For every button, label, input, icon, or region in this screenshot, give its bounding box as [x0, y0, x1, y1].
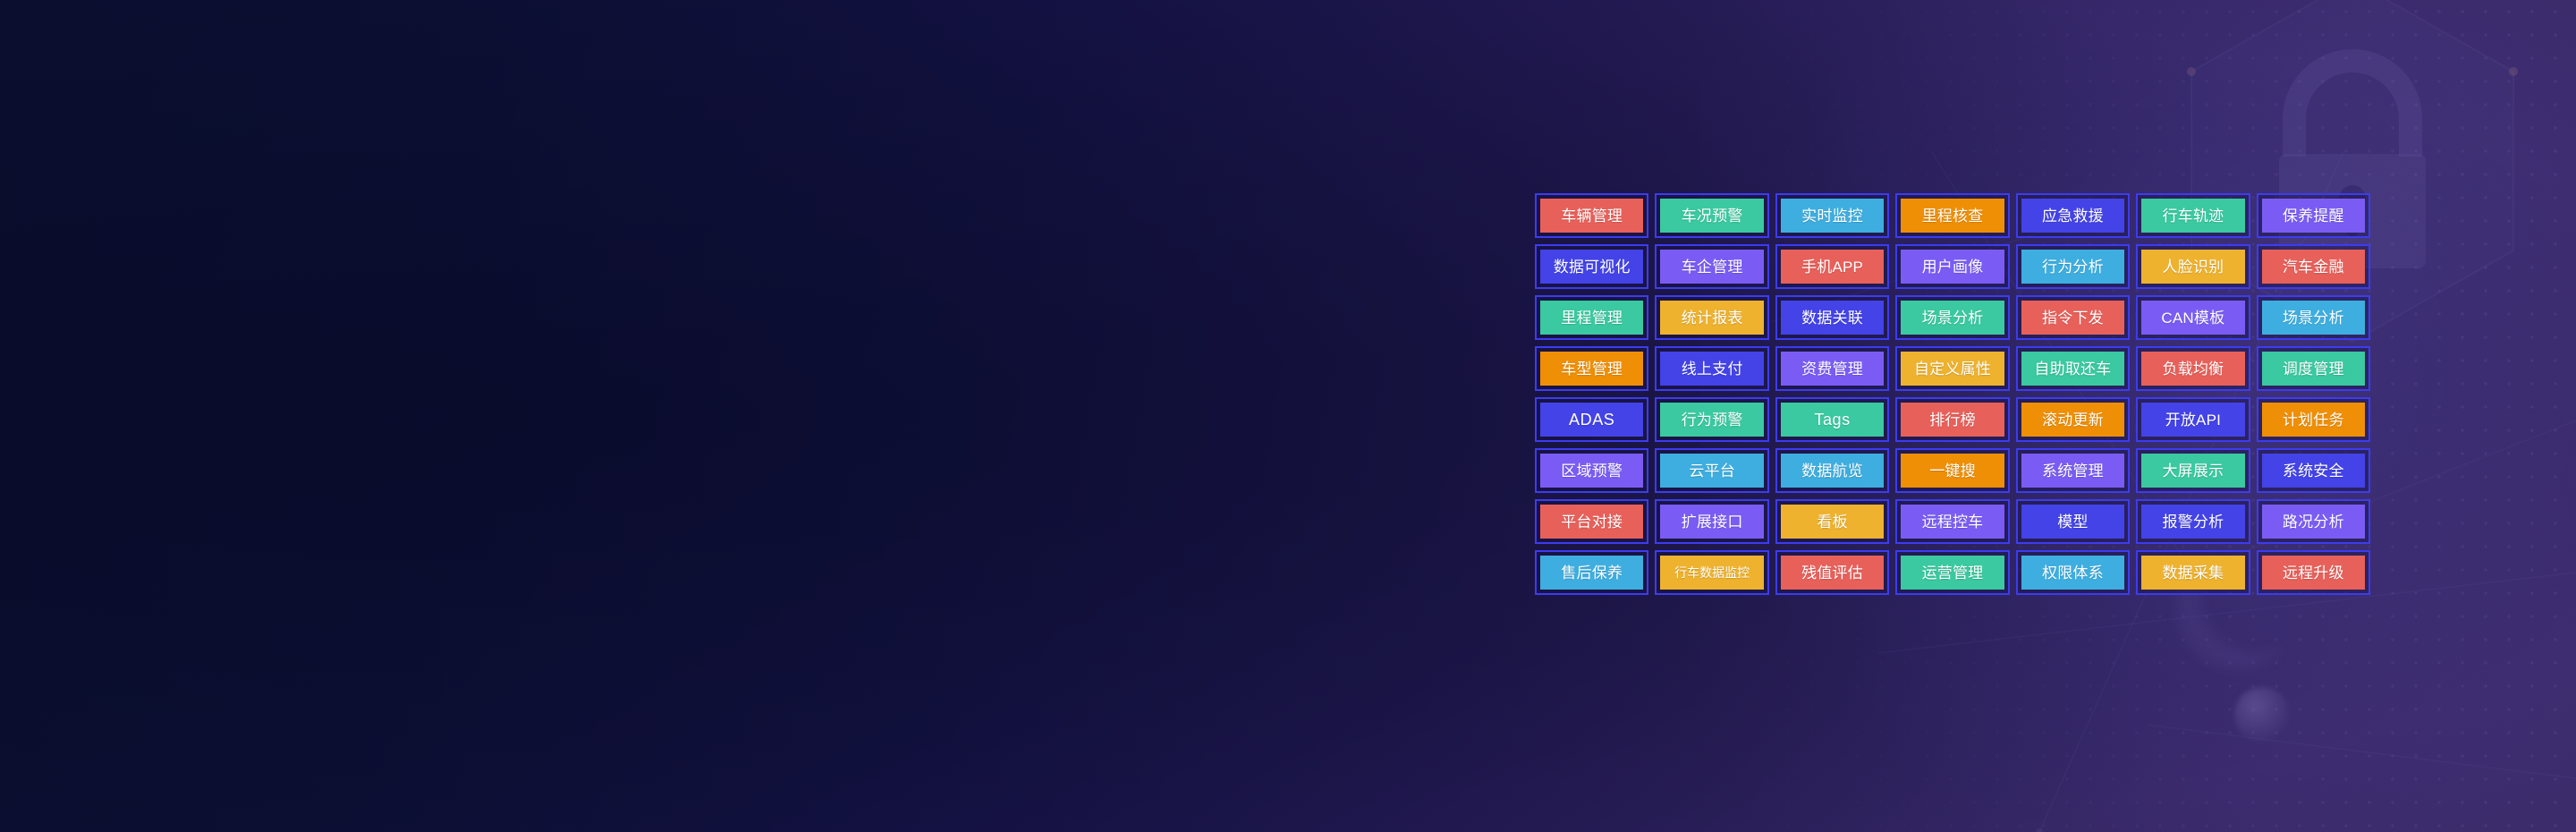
capability-tile[interactable]: 数据航览: [1781, 454, 1884, 488]
capability-tile[interactable]: 汽车金融: [2262, 250, 2365, 284]
capability-tile-label: 里程管理: [1561, 310, 1623, 326]
capability-tile-cell[interactable]: 负载均衡: [2136, 346, 2250, 391]
capability-tile-label: 行车数据监控: [1674, 566, 1750, 579]
capability-tile-cell[interactable]: 实时监控: [1775, 193, 1889, 238]
capability-tile-cell[interactable]: CAN模板: [2136, 295, 2250, 340]
capability-tile[interactable]: 手机APP: [1781, 250, 1884, 284]
capability-tile-label: 模型: [2057, 514, 2088, 530]
capability-tile-label: 运营管理: [1922, 565, 1984, 581]
capability-tile-label: 系统管理: [2042, 463, 2104, 479]
capability-tile[interactable]: 自定义属性: [1901, 352, 2004, 386]
capability-tile-label: 场景分析: [2283, 310, 2344, 326]
capability-tile-cell[interactable]: 滚动更新: [2016, 397, 2130, 442]
capability-tile-label: 排行榜: [1929, 412, 1976, 428]
capability-tile-cell[interactable]: 排行榜: [1895, 397, 2009, 442]
capability-tile[interactable]: 售后保养: [1540, 556, 1643, 590]
capability-tile-label: 远程升级: [2283, 565, 2344, 581]
capability-tile[interactable]: 扩展接口: [1660, 505, 1763, 539]
capability-tile[interactable]: 一键搜: [1901, 454, 2004, 488]
capability-tile-label: 负载均衡: [2162, 361, 2224, 377]
capability-tile-cell[interactable]: 系统安全: [2257, 448, 2370, 493]
capability-tile-cell[interactable]: 运营管理: [1895, 550, 2009, 595]
capability-tile[interactable]: 调度管理: [2262, 352, 2365, 386]
capability-tile[interactable]: 资费管理: [1781, 352, 1884, 386]
capability-tile-label: 汽车金融: [2283, 259, 2344, 275]
capability-tile-label: 平台对接: [1561, 514, 1623, 530]
capability-tile[interactable]: 开放API: [2141, 403, 2244, 437]
capability-tile-label: 滚动更新: [2042, 412, 2104, 428]
capability-tile[interactable]: 路况分析: [2262, 505, 2365, 539]
capability-tile-label: 场景分析: [1922, 310, 1984, 326]
capability-tile[interactable]: ADAS: [1540, 403, 1643, 437]
capability-tile-label: 系统安全: [2283, 463, 2344, 479]
capability-tile[interactable]: 区域预警: [1540, 454, 1643, 488]
capability-tile-cell[interactable]: 线上支付: [1655, 346, 1768, 391]
capability-tile-cell[interactable]: 里程管理: [1535, 295, 1648, 340]
capability-tile[interactable]: 行为分析: [2021, 250, 2124, 284]
capability-tile-label: 实时监控: [1801, 208, 1863, 224]
capability-tile-label: Tags: [1814, 412, 1850, 428]
capability-tile-label: 线上支付: [1682, 361, 1743, 377]
capability-tile-cell[interactable]: 计划任务: [2257, 397, 2370, 442]
capability-tile-label: 数据航览: [1801, 463, 1863, 479]
capability-tile-label: 看板: [1817, 514, 1847, 530]
capability-tile[interactable]: 大屏展示: [2141, 454, 2244, 488]
capability-tile-cell[interactable]: 自助取还车: [2016, 346, 2130, 391]
capability-tile-label: 调度管理: [2283, 361, 2344, 377]
capability-tile-label: 行为分析: [2042, 259, 2104, 275]
capability-tile-label: 云平台: [1689, 463, 1735, 479]
capability-tile-cell[interactable]: 统计报表: [1655, 295, 1768, 340]
capability-tile-cell[interactable]: 远程升级: [2257, 550, 2370, 595]
capability-tile[interactable]: 排行榜: [1901, 403, 2004, 437]
capability-tile[interactable]: 自助取还车: [2021, 352, 2124, 386]
capability-tile-label: 自助取还车: [2034, 361, 2111, 377]
capability-tile[interactable]: 行车轨迹: [2141, 199, 2244, 233]
capability-tile[interactable]: 指令下发: [2021, 301, 2124, 335]
capability-tile-cell[interactable]: 行车数据监控: [1655, 550, 1768, 595]
capability-tile-label: 手机APP: [1801, 259, 1863, 275]
capability-tile-label: 权限体系: [2042, 565, 2104, 581]
capability-tile-label: 用户画像: [1922, 259, 1984, 275]
capability-tile-cell[interactable]: 人脸识别: [2136, 244, 2250, 289]
capability-tile-cell[interactable]: 系统管理: [2016, 448, 2130, 493]
capability-tile[interactable]: 统计报表: [1660, 301, 1763, 335]
capability-tile[interactable]: 残值评估: [1781, 556, 1884, 590]
capability-tile[interactable]: 看板: [1781, 505, 1884, 539]
capability-tile-label: 数据可视化: [1554, 259, 1631, 275]
capability-tile[interactable]: 场景分析: [2262, 301, 2365, 335]
capability-tile[interactable]: 计划任务: [2262, 403, 2365, 437]
capability-tile[interactable]: 车企管理: [1660, 250, 1763, 284]
capability-tile-cell[interactable]: 汽车金融: [2257, 244, 2370, 289]
capability-tile[interactable]: 运营管理: [1901, 556, 2004, 590]
capability-tile[interactable]: 模型: [2021, 505, 2124, 539]
capability-tile-cell[interactable]: 一键搜: [1895, 448, 2009, 493]
capability-tile[interactable]: 实时监控: [1781, 199, 1884, 233]
capability-tile-label: 远程控车: [1922, 514, 1984, 530]
capability-tile-label: 车企管理: [1682, 259, 1743, 275]
capability-tile-cell[interactable]: 残值评估: [1775, 550, 1889, 595]
capability-tile[interactable]: 滚动更新: [2021, 403, 2124, 437]
capability-grid: 车辆管理车况预警实时监控里程核查应急救援行车轨迹保养提醒数据可视化车企管理手机A…: [1535, 193, 2370, 595]
capability-tile-cell[interactable]: 指令下发: [2016, 295, 2130, 340]
capability-tile-cell[interactable]: 数据关联: [1775, 295, 1889, 340]
capability-tile[interactable]: 权限体系: [2021, 556, 2124, 590]
capability-tile-cell[interactable]: 大屏展示: [2136, 448, 2250, 493]
capability-tile-cell[interactable]: 场景分析: [2257, 295, 2370, 340]
capability-tile[interactable]: 场景分析: [1901, 301, 2004, 335]
capability-tile[interactable]: Tags: [1781, 403, 1884, 437]
capability-tile-label: 一键搜: [1929, 463, 1976, 479]
capability-tile-label: 残值评估: [1801, 565, 1863, 581]
capability-tile-label: 里程核查: [1922, 208, 1984, 224]
capability-tile[interactable]: 数据可视化: [1540, 250, 1643, 284]
capability-tile[interactable]: 里程核查: [1901, 199, 2004, 233]
capability-tile-cell[interactable]: 开放API: [2136, 397, 2250, 442]
capability-tile-label: 车辆管理: [1561, 208, 1623, 224]
capability-tile-cell[interactable]: 车企管理: [1655, 244, 1768, 289]
capability-tile-cell[interactable]: 权限体系: [2016, 550, 2130, 595]
capability-tile-label: 开放API: [2165, 412, 2221, 428]
capability-tile[interactable]: 人脸识别: [2141, 250, 2244, 284]
capability-tile-cell[interactable]: 售后保养: [1535, 550, 1648, 595]
capability-tile-label: ADAS: [1569, 412, 1614, 428]
capability-tile-cell[interactable]: 车辆管理: [1535, 193, 1648, 238]
capability-tile[interactable]: 车型管理: [1540, 352, 1643, 386]
capability-tile[interactable]: 线上支付: [1660, 352, 1763, 386]
orb-glow: [2234, 687, 2290, 743]
capability-tile-label: 路况分析: [2283, 514, 2344, 530]
capability-tile[interactable]: 系统管理: [2021, 454, 2124, 488]
capability-tile-label: 报警分析: [2162, 514, 2224, 530]
capability-tile-label: 自定义属性: [1914, 361, 1991, 377]
capability-tile-cell[interactable]: 里程核查: [1895, 193, 2009, 238]
capability-tile-cell[interactable]: 用户画像: [1895, 244, 2009, 289]
capability-tile-label: 数据关联: [1801, 310, 1863, 326]
capability-tile-cell[interactable]: 自定义属性: [1895, 346, 2009, 391]
capability-tile-cell[interactable]: 看板: [1775, 499, 1889, 544]
capability-tile-cell[interactable]: 报警分析: [2136, 499, 2250, 544]
capability-tile-cell[interactable]: 扩展接口: [1655, 499, 1768, 544]
capability-tile[interactable]: 系统安全: [2262, 454, 2365, 488]
capability-tile[interactable]: 远程升级: [2262, 556, 2365, 590]
capability-tile[interactable]: 报警分析: [2141, 505, 2244, 539]
capability-tile-label: 统计报表: [1682, 310, 1743, 326]
capability-tile[interactable]: 应急救援: [2021, 199, 2124, 233]
capability-tile-cell[interactable]: 路况分析: [2257, 499, 2370, 544]
capability-tile[interactable]: 远程控车: [1901, 505, 2004, 539]
capability-tile-label: 数据采集: [2162, 565, 2224, 581]
capability-tile-cell[interactable]: 数据航览: [1775, 448, 1889, 493]
capability-tile-cell[interactable]: 云平台: [1655, 448, 1768, 493]
capability-tile[interactable]: 里程管理: [1540, 301, 1643, 335]
capability-tile-cell[interactable]: 行为预警: [1655, 397, 1768, 442]
capability-tile[interactable]: 保养提醒: [2262, 199, 2365, 233]
capability-tile-label: 扩展接口: [1682, 514, 1743, 530]
capability-tile-cell[interactable]: 远程控车: [1895, 499, 2009, 544]
capability-tile[interactable]: 负载均衡: [2141, 352, 2244, 386]
capability-tile-label: 资费管理: [1801, 361, 1863, 377]
capability-tile-cell[interactable]: 车型管理: [1535, 346, 1648, 391]
capability-tile-label: 售后保养: [1561, 565, 1623, 581]
capability-tile[interactable]: 行为预警: [1660, 403, 1763, 437]
capability-tile-label: CAN模板: [2161, 310, 2224, 326]
capability-tile-label: 大屏展示: [2162, 463, 2224, 479]
capability-tile-label: 人脸识别: [2162, 259, 2224, 275]
capability-tile-label: 行车轨迹: [2162, 208, 2224, 224]
capability-tile[interactable]: 车辆管理: [1540, 199, 1643, 233]
capability-tile-label: 行为预警: [1682, 412, 1743, 428]
capability-tile-cell[interactable]: 区域预警: [1535, 448, 1648, 493]
capability-tile-label: 指令下发: [2042, 310, 2104, 326]
capability-tile[interactable]: 车况预警: [1660, 199, 1763, 233]
capability-tile[interactable]: 用户画像: [1901, 250, 2004, 284]
capability-tile-cell[interactable]: 手机APP: [1775, 244, 1889, 289]
capability-tile-cell[interactable]: 应急救援: [2016, 193, 2130, 238]
capability-tile-label: 车况预警: [1682, 208, 1743, 224]
page-root: 车辆管理车况预警实时监控里程核查应急救援行车轨迹保养提醒数据可视化车企管理手机A…: [0, 0, 2576, 832]
capability-tile-cell[interactable]: 数据可视化: [1535, 244, 1648, 289]
capability-tile-label: 计划任务: [2283, 412, 2344, 428]
capability-tile[interactable]: 行车数据监控: [1660, 556, 1763, 590]
capability-tile-cell[interactable]: 调度管理: [2257, 346, 2370, 391]
capability-tile[interactable]: 数据采集: [2141, 556, 2244, 590]
capability-tile-cell[interactable]: 资费管理: [1775, 346, 1889, 391]
capability-tile-label: 应急救援: [2042, 208, 2104, 224]
capability-tile-cell[interactable]: 平台对接: [1535, 499, 1648, 544]
capability-tile-label: 保养提醒: [2283, 208, 2344, 224]
capability-tile-cell[interactable]: Tags: [1775, 397, 1889, 442]
capability-tile-cell[interactable]: 行为分析: [2016, 244, 2130, 289]
capability-tile-label: 车型管理: [1561, 361, 1623, 377]
capability-tile[interactable]: 数据关联: [1781, 301, 1884, 335]
capability-tile-cell[interactable]: ADAS: [1535, 397, 1648, 442]
capability-tile-cell[interactable]: 车况预警: [1655, 193, 1768, 238]
capability-tile[interactable]: 云平台: [1660, 454, 1763, 488]
capability-tile-cell[interactable]: 场景分析: [1895, 295, 2009, 340]
capability-tile-cell[interactable]: 模型: [2016, 499, 2130, 544]
capability-tile[interactable]: 平台对接: [1540, 505, 1643, 539]
capability-tile[interactable]: CAN模板: [2141, 301, 2244, 335]
capability-tile-cell[interactable]: 行车轨迹: [2136, 193, 2250, 238]
capability-tile-cell[interactable]: 数据采集: [2136, 550, 2250, 595]
capability-tile-label: 区域预警: [1561, 463, 1623, 479]
capability-tile-cell[interactable]: 保养提醒: [2257, 193, 2370, 238]
